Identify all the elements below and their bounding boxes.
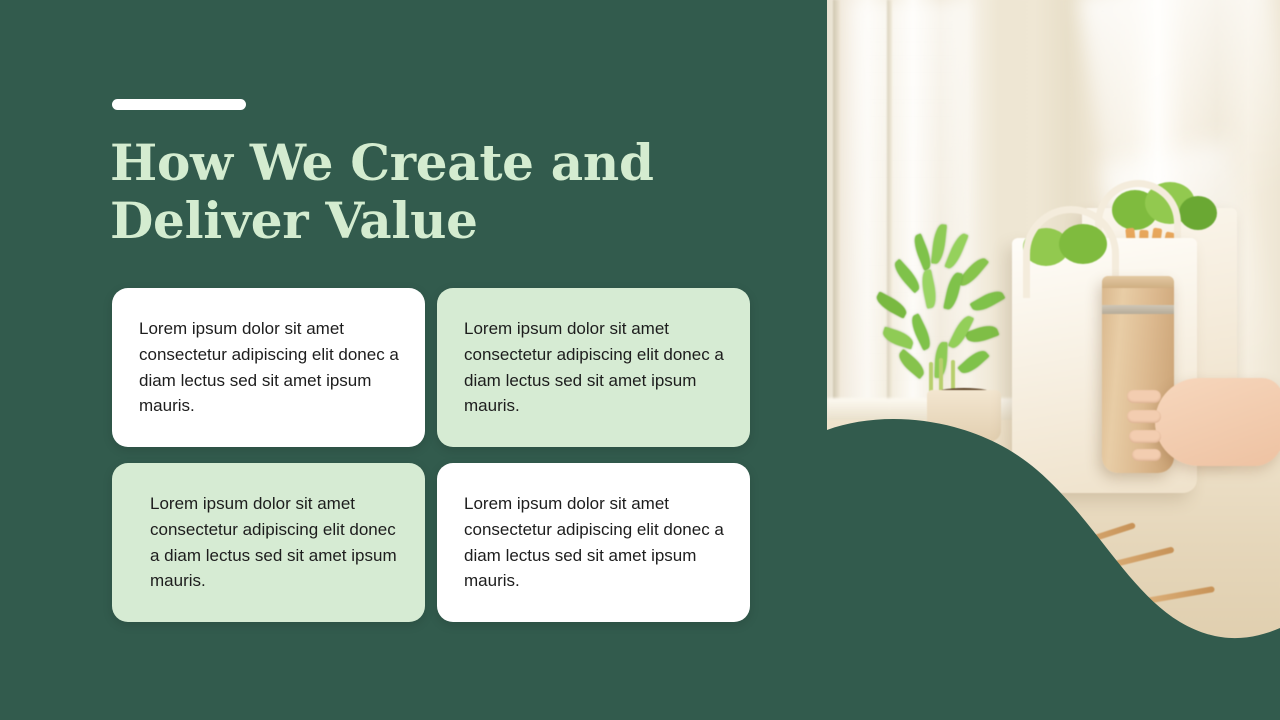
value-cards-grid: Lorem ipsum dolor sit amet consectetur a… bbox=[112, 288, 749, 622]
value-card-2-text: Lorem ipsum dolor sit amet consectetur a… bbox=[437, 316, 750, 419]
page-title-line-1: How We Create and bbox=[110, 133, 654, 192]
slide-root: How We Create and Deliver Value Lorem ip… bbox=[0, 0, 1280, 720]
green-curve-overlay bbox=[827, 0, 1280, 720]
page-title: How We Create and Deliver Value bbox=[110, 134, 750, 250]
value-card-4[interactable]: Lorem ipsum dolor sit amet consectetur a… bbox=[437, 463, 750, 622]
photo-panel bbox=[827, 0, 1280, 720]
value-card-3[interactable]: Lorem ipsum dolor sit amet consectetur a… bbox=[112, 463, 425, 622]
value-card-2[interactable]: Lorem ipsum dolor sit amet consectetur a… bbox=[437, 288, 750, 447]
value-card-1[interactable]: Lorem ipsum dolor sit amet consectetur a… bbox=[112, 288, 425, 447]
value-card-1-text: Lorem ipsum dolor sit amet consectetur a… bbox=[112, 316, 425, 419]
accent-bar bbox=[112, 99, 246, 110]
value-card-4-text: Lorem ipsum dolor sit amet consectetur a… bbox=[437, 491, 750, 594]
page-title-line-2: Deliver Value bbox=[110, 191, 478, 250]
value-card-3-text: Lorem ipsum dolor sit amet consectetur a… bbox=[112, 491, 425, 594]
